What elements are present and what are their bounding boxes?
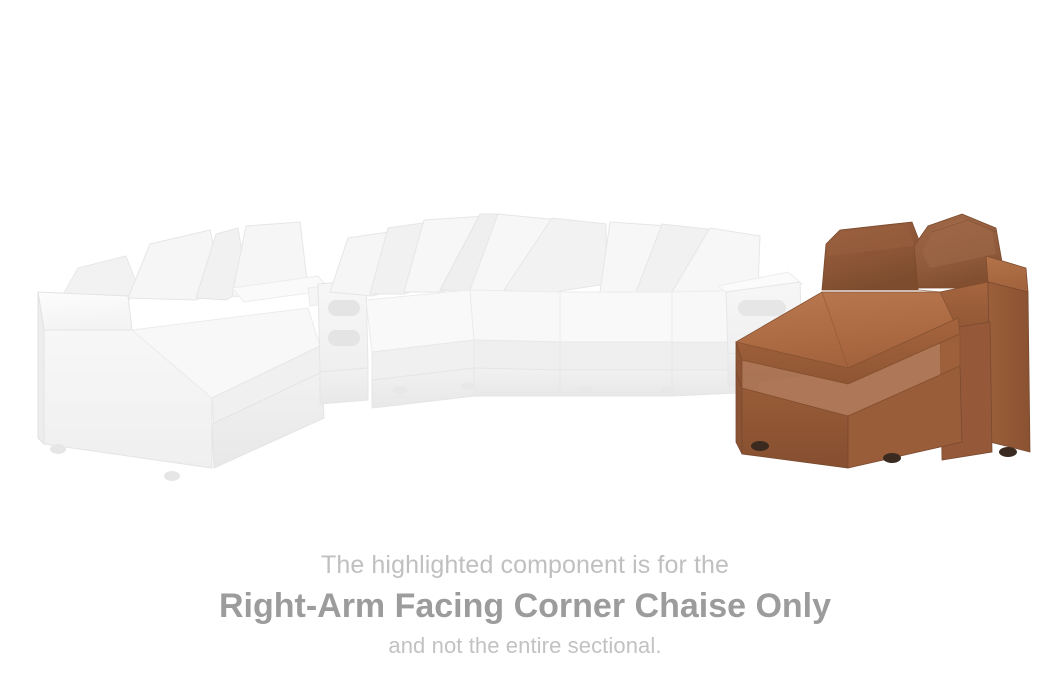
sectional-illustration	[0, 0, 1050, 520]
product-figure	[0, 0, 1050, 520]
sofa-foot	[883, 453, 901, 463]
cupholder-slot	[328, 330, 360, 346]
ghost-module-left-loveseat	[38, 222, 324, 481]
cupholder-slot	[328, 300, 360, 316]
caption-lead-text: The highlighted component is for the	[0, 548, 1050, 582]
caption-component-name: Right-Arm Facing Corner Chaise Only	[0, 584, 1050, 628]
caption-trailing-text: and not the entire sectional.	[0, 631, 1050, 661]
cupholder-slot	[738, 300, 786, 316]
caption-block: The highlighted component is for the Rig…	[0, 548, 1050, 661]
sofa-foot	[751, 441, 769, 451]
sofa-foot	[999, 447, 1017, 457]
highlighted-raf-corner-chaise	[736, 214, 1030, 468]
